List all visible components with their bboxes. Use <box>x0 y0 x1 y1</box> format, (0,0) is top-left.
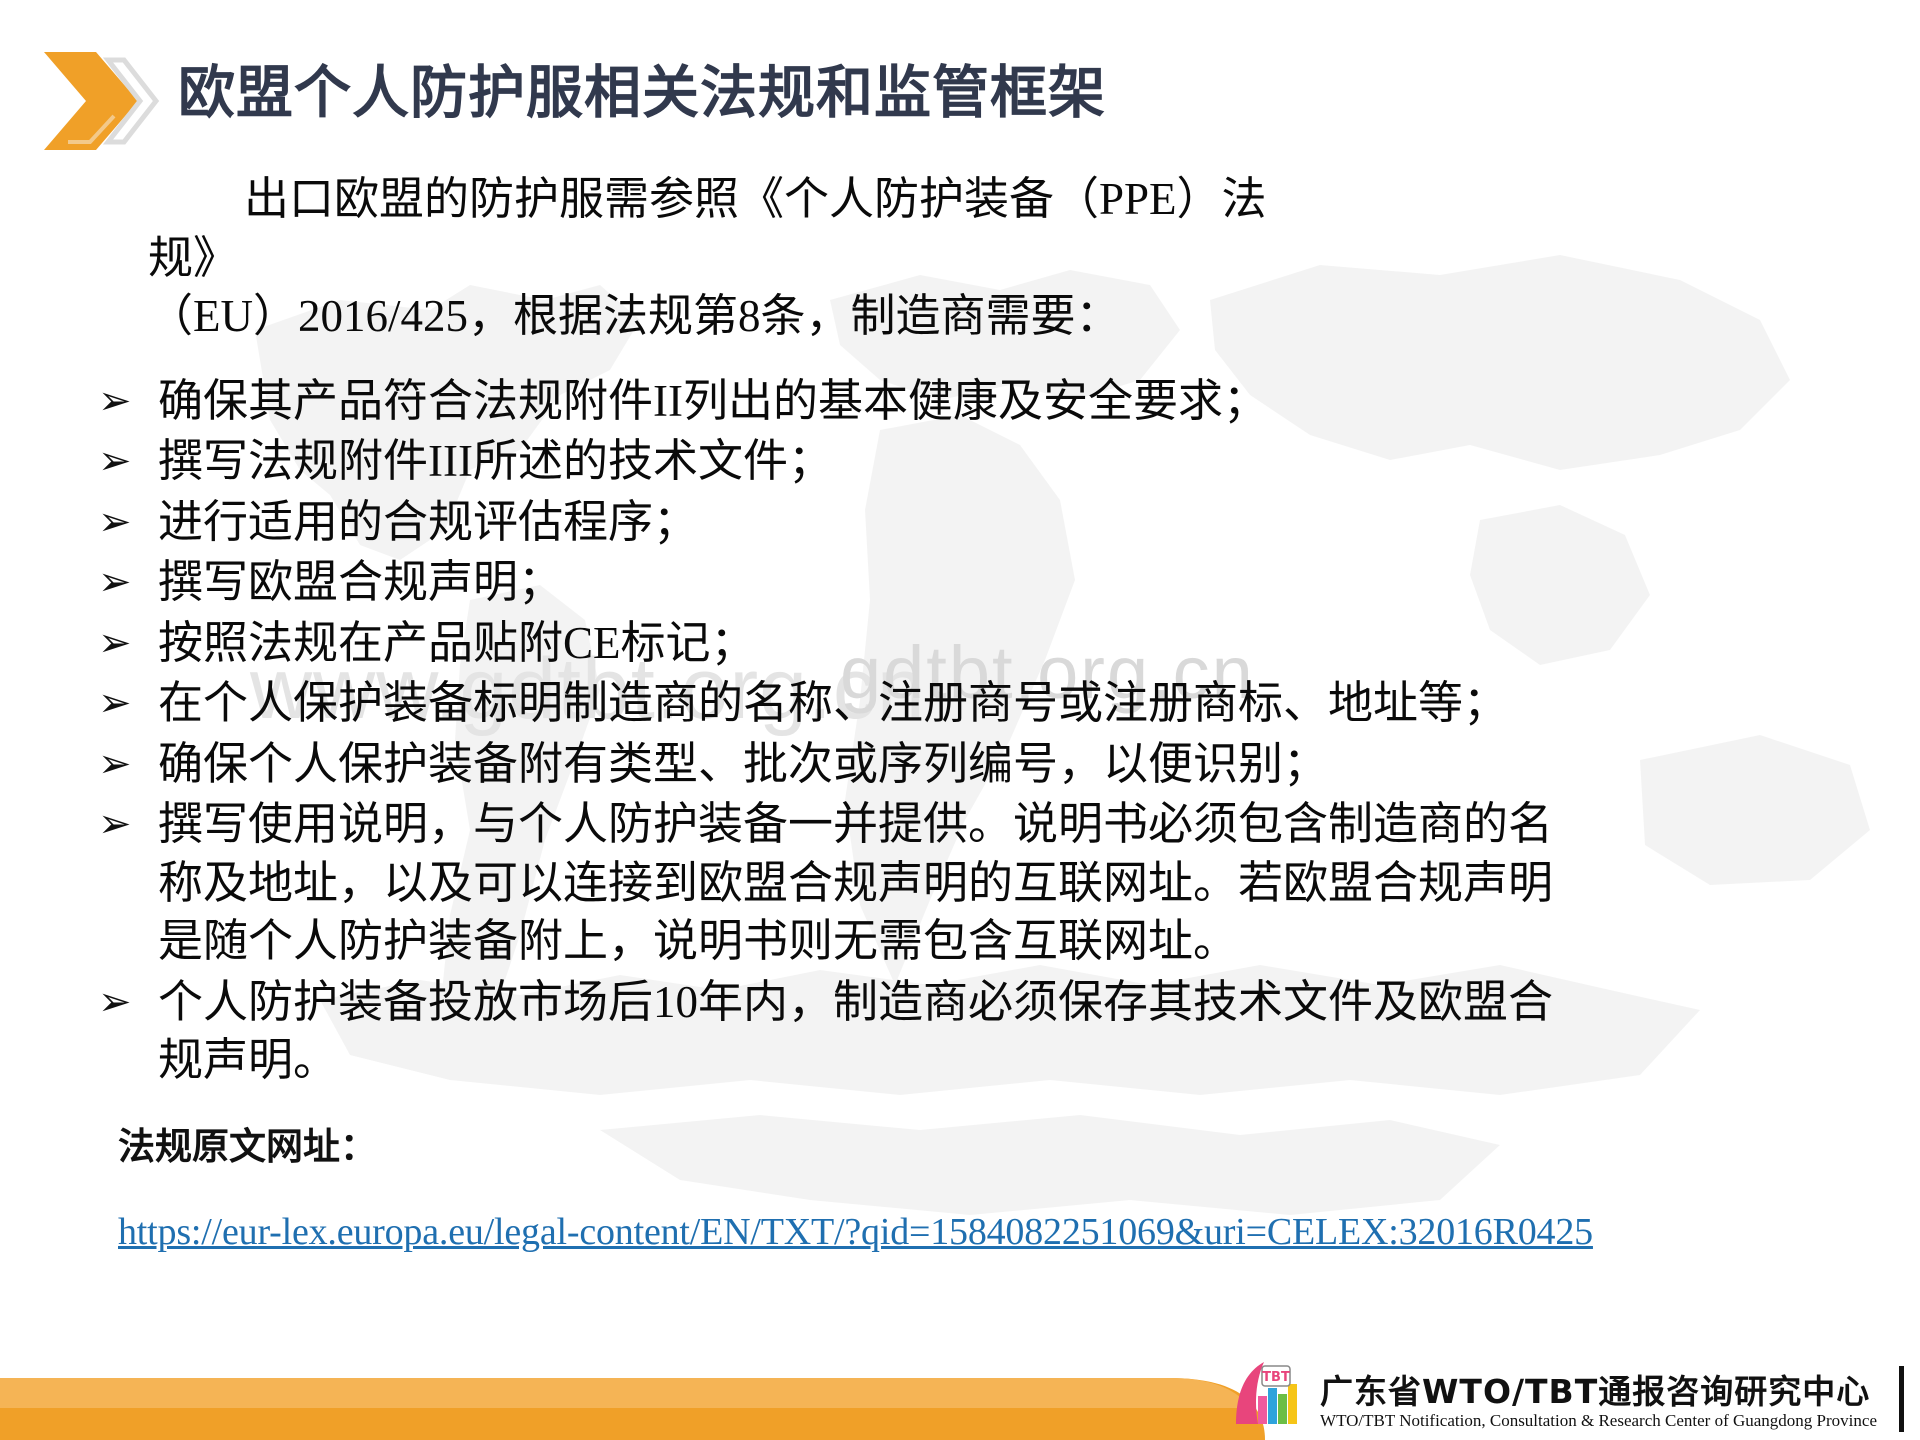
intro-line-1: 出口欧盟的防护服需参照《个人防护装备（PPE）法规》 <box>148 174 1267 283</box>
list-item: ➢ 按照法规在产品贴附CE标记； <box>96 614 1578 673</box>
list-item: ➢ 在个人保护装备标明制造商的名称、注册商号或注册商标、地址等； <box>96 674 1578 733</box>
list-item: ➢ 个人防护装备投放市场后10年内，制造商必须保存其技术文件及欧盟合规声明。 <box>96 973 1578 1090</box>
arrow-bullet-icon: ➢ <box>98 737 132 792</box>
footer-logo: TBT 广东省WTO/TBT通报咨询研究中心 WTO/TBT Notificat… <box>1230 1358 1904 1432</box>
source-url-link[interactable]: https://eur-lex.europa.eu/legal-content/… <box>0 1210 1920 1254</box>
requirements-list: ➢ 确保其产品符合法规附件II列出的基本健康及安全要求； ➢ 撰写法规附件III… <box>0 372 1920 1090</box>
intro-paragraph: 出口欧盟的防护服需参照《个人防护装备（PPE）法规》 （EU）2016/425，… <box>0 170 1920 346</box>
title-row: 欧盟个人防护服相关法规和监管框架 <box>0 28 1920 148</box>
source-label: 法规原文网址： <box>0 1116 1920 1170</box>
chevron-solid-icon <box>44 52 138 150</box>
arrow-bullet-icon: ➢ <box>98 676 132 731</box>
list-item-text: 撰写法规附件III所述的技术文件； <box>158 436 833 486</box>
list-item-text: 撰写使用说明，与个人防护装备一并提供。说明书必须包含制造商的名称及地址，以及可以… <box>158 799 1553 966</box>
list-item: ➢ 撰写欧盟合规声明； <box>96 553 1578 612</box>
list-item-text: 确保其产品符合法规附件II列出的基本健康及安全要求； <box>158 376 1268 426</box>
arrow-bullet-icon: ➢ <box>98 374 132 429</box>
org-name-cn: 广东省WTO/TBT通报咨询研究中心 <box>1320 1375 1877 1410</box>
chevron-decoration <box>38 46 178 156</box>
list-item-text: 进行适用的合规评估程序； <box>158 497 698 547</box>
list-item: ➢ 确保个人保护装备附有类型、批次或序列编号，以便识别； <box>96 735 1578 794</box>
list-item: ➢ 撰写法规附件III所述的技术文件； <box>96 432 1578 491</box>
list-item-text: 按照法规在产品贴附CE标记； <box>158 618 756 668</box>
arrow-bullet-icon: ➢ <box>98 797 132 852</box>
slide-body: 出口欧盟的防护服需参照《个人防护装备（PPE）法规》 （EU）2016/425，… <box>0 170 1920 1254</box>
list-item-text: 撰写欧盟合规声明； <box>158 557 563 607</box>
tbt-logo-icon: TBT <box>1230 1358 1308 1432</box>
arrow-bullet-icon: ➢ <box>98 616 132 671</box>
slide-canvas: www.gdtbt.org.cn gdtbt.org.cn 欧盟个人防护服相关法… <box>0 0 1920 1440</box>
arrow-bullet-icon: ➢ <box>98 495 132 550</box>
arrow-bullet-icon: ➢ <box>98 434 132 489</box>
page-title: 欧盟个人防护服相关法规和监管框架 <box>178 64 1106 124</box>
arrow-bullet-icon: ➢ <box>98 555 132 610</box>
logo-divider <box>1899 1366 1904 1432</box>
list-item: ➢ 进行适用的合规评估程序； <box>96 493 1578 552</box>
list-item-text: 确保个人保护装备附有类型、批次或序列编号，以便识别； <box>158 739 1328 789</box>
intro-line-2: （EU）2016/425，根据法规第8条，制造商需要： <box>148 287 1280 346</box>
list-item-text: 个人防护装备投放市场后10年内，制造商必须保存其技术文件及欧盟合规声明。 <box>158 977 1553 1086</box>
svg-text:TBT: TBT <box>1262 1370 1290 1385</box>
arrow-bullet-icon: ➢ <box>98 975 132 1030</box>
list-item: ➢ 确保其产品符合法规附件II列出的基本健康及安全要求； <box>96 372 1578 431</box>
list-item: ➢ 撰写使用说明，与个人防护装备一并提供。说明书必须包含制造商的名称及地址，以及… <box>96 795 1578 971</box>
list-item-text: 在个人保护装备标明制造商的名称、注册商号或注册商标、地址等； <box>158 678 1508 728</box>
org-name-en: WTO/TBT Notification, Consultation & Res… <box>1320 1412 1877 1430</box>
